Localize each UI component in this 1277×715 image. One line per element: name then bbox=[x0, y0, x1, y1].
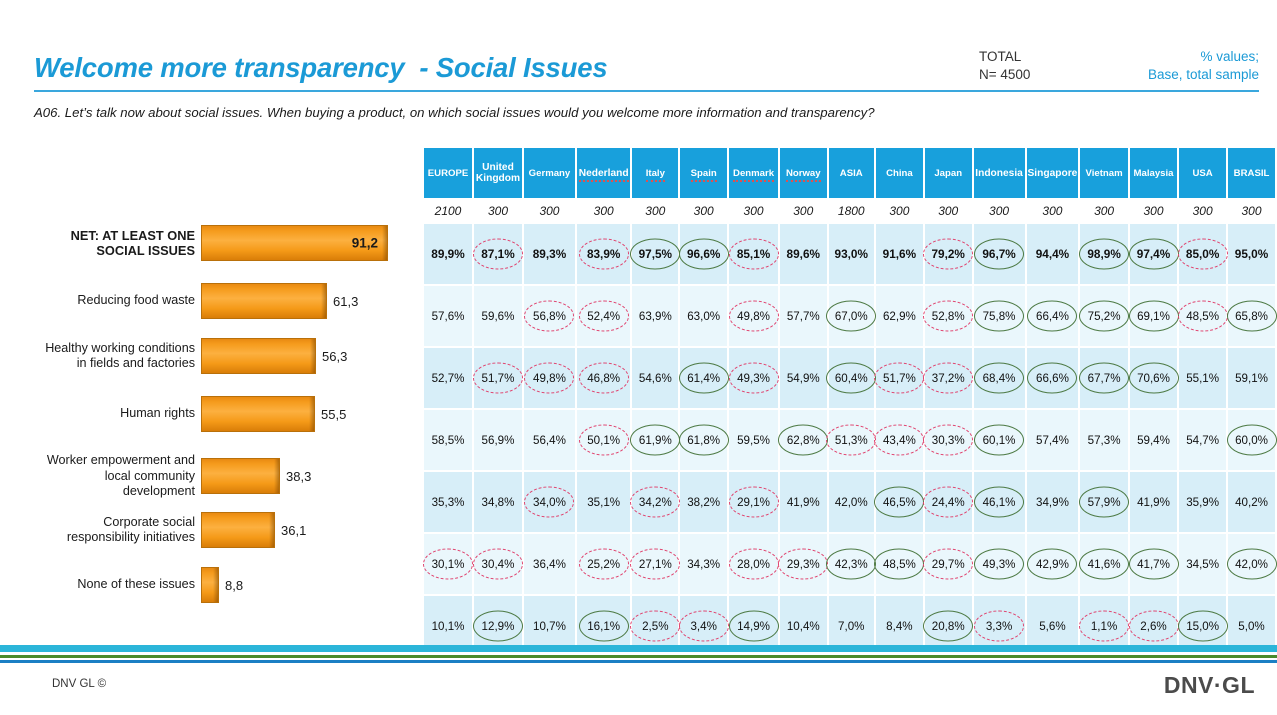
data-cell-value: 46,1% bbox=[978, 493, 1021, 512]
base-size-cell: 300 bbox=[925, 198, 974, 224]
data-cell: 46,8% bbox=[577, 348, 632, 410]
data-cell: 60,1% bbox=[974, 410, 1027, 472]
data-cell-value: 50,1% bbox=[582, 431, 625, 450]
bar-label: Human rights bbox=[0, 406, 201, 422]
data-cell: 34,2% bbox=[632, 472, 680, 534]
data-cell-value: 42,0% bbox=[830, 493, 873, 512]
data-cell: 42,0% bbox=[1228, 534, 1277, 596]
bar-wrapper: 8,8 bbox=[201, 567, 243, 603]
data-cell: 93,0% bbox=[829, 224, 876, 286]
data-cell-value: 34,2% bbox=[634, 493, 677, 512]
data-cell-value: 62,8% bbox=[782, 431, 825, 450]
data-cell-value: 48,5% bbox=[1181, 307, 1224, 326]
data-cell: 68,4% bbox=[974, 348, 1027, 410]
data-cell: 54,7% bbox=[1179, 410, 1228, 472]
bar-label: NET: AT LEAST ONESOCIAL ISSUES bbox=[0, 228, 201, 259]
total-label: TOTAL bbox=[979, 48, 1074, 66]
data-cell: 57,4% bbox=[1027, 410, 1081, 472]
data-cell: 60,0% bbox=[1228, 410, 1277, 472]
column-header-malaysia: Malaysia bbox=[1130, 148, 1179, 198]
data-cell: 54,9% bbox=[780, 348, 829, 410]
data-cell-value: 34,3% bbox=[682, 555, 725, 574]
data-cell: 57,9% bbox=[1080, 472, 1129, 534]
data-cell: 36,4% bbox=[524, 534, 577, 596]
footer-stripe-cyan bbox=[0, 645, 1277, 652]
column-header-asia: ASIA bbox=[829, 148, 876, 198]
data-cell-value: 20,8% bbox=[927, 617, 970, 636]
data-cell: 49,8% bbox=[729, 286, 780, 348]
bar-wrapper: 55,5 bbox=[201, 396, 346, 432]
data-cell: 66,6% bbox=[1027, 348, 1081, 410]
base-size-cell: 300 bbox=[474, 198, 524, 224]
data-cell-value: 37,2% bbox=[927, 369, 970, 388]
data-cell: 59,6% bbox=[474, 286, 524, 348]
table-row: 52,7%51,7%49,8%46,8%54,6%61,4%49,3%54,9%… bbox=[424, 348, 1277, 410]
data-cell-value: 97,4% bbox=[1132, 244, 1175, 264]
data-cell-value: 41,6% bbox=[1083, 555, 1126, 574]
data-cell: 67,7% bbox=[1080, 348, 1129, 410]
base-size-cell: 300 bbox=[524, 198, 577, 224]
data-cell: 67,0% bbox=[829, 286, 876, 348]
data-cell: 96,7% bbox=[974, 224, 1027, 286]
data-cell-value: 63,9% bbox=[634, 307, 677, 326]
base-size-row: 2100300300300300300300300180030030030030… bbox=[424, 198, 1277, 224]
data-cell-value: 1,1% bbox=[1086, 617, 1122, 636]
data-cell-value: 34,9% bbox=[1031, 493, 1074, 512]
data-cell: 29,3% bbox=[780, 534, 829, 596]
data-cell: 30,4% bbox=[474, 534, 524, 596]
table-row: 57,6%59,6%56,8%52,4%63,9%63,0%49,8%57,7%… bbox=[424, 286, 1277, 348]
data-cell: 75,8% bbox=[974, 286, 1027, 348]
bar-label: Corporate socialresponsibility initiativ… bbox=[0, 515, 201, 546]
data-cell: 51,3% bbox=[829, 410, 876, 472]
data-cell-value: 29,1% bbox=[732, 493, 775, 512]
data-cell-value: 27,1% bbox=[634, 555, 677, 574]
data-cell-value: 30,1% bbox=[427, 555, 470, 574]
data-cell: 89,3% bbox=[524, 224, 577, 286]
data-cell-value: 51,7% bbox=[477, 369, 520, 388]
bar-row: Reducing food waste61,3 bbox=[0, 283, 420, 319]
data-cell-value: 61,4% bbox=[682, 369, 725, 388]
data-cell: 40,2% bbox=[1228, 472, 1277, 534]
data-cell-value: 96,7% bbox=[977, 244, 1020, 264]
data-cell-value: 24,4% bbox=[927, 493, 970, 512]
data-cell-value: 87,1% bbox=[476, 244, 519, 264]
data-cell: 61,9% bbox=[632, 410, 680, 472]
data-cell-value: 30,3% bbox=[927, 431, 970, 450]
data-cell-value: 67,0% bbox=[830, 307, 873, 326]
bar-wrapper: 61,3 bbox=[201, 283, 358, 319]
data-cell: 37,2% bbox=[925, 348, 974, 410]
bar-row: Healthy working conditionsin fields and … bbox=[0, 338, 420, 374]
data-cell: 34,9% bbox=[1027, 472, 1081, 534]
data-cell-value: 10,1% bbox=[427, 617, 470, 636]
data-cell-value: 63,0% bbox=[682, 307, 725, 326]
data-cell-value: 59,5% bbox=[732, 431, 775, 450]
bar bbox=[201, 567, 219, 603]
bar-wrapper: 91,2 bbox=[201, 225, 388, 261]
data-cell: 83,9% bbox=[577, 224, 632, 286]
data-cell-value: 54,6% bbox=[634, 369, 677, 388]
data-cell-value: 2,6% bbox=[1135, 617, 1171, 636]
data-cell: 27,1% bbox=[632, 534, 680, 596]
bar-row: Corporate socialresponsibility initiativ… bbox=[0, 512, 420, 548]
bar-label: Reducing food waste bbox=[0, 293, 201, 309]
table-row: 58,5%56,9%56,4%50,1%61,9%61,8%59,5%62,8%… bbox=[424, 410, 1277, 472]
base-size-cell: 300 bbox=[1080, 198, 1129, 224]
column-header-brasil: BRASIL bbox=[1228, 148, 1277, 198]
data-cell-value: 94,4% bbox=[1031, 244, 1074, 264]
data-cell: 75,2% bbox=[1080, 286, 1129, 348]
data-cell: 51,7% bbox=[474, 348, 524, 410]
bar-value: 55,5 bbox=[321, 407, 346, 422]
bar-value: 38,3 bbox=[286, 469, 311, 484]
data-cell-value: 89,9% bbox=[426, 244, 469, 264]
column-header-spain: Spain bbox=[680, 148, 729, 198]
data-cell-value: 51,7% bbox=[878, 369, 921, 388]
data-cell-value: 59,6% bbox=[477, 307, 520, 326]
data-cell-value: 49,3% bbox=[732, 369, 775, 388]
bar-row: NET: AT LEAST ONESOCIAL ISSUES91,2 bbox=[0, 225, 420, 261]
data-cell-value: 57,4% bbox=[1031, 431, 1074, 450]
data-cell-value: 16,1% bbox=[582, 617, 625, 636]
data-cell-value: 41,9% bbox=[1132, 493, 1175, 512]
data-cell-value: 41,9% bbox=[782, 493, 825, 512]
data-cell: 61,8% bbox=[680, 410, 729, 472]
bar-chart: NET: AT LEAST ONESOCIAL ISSUES91,2Reduci… bbox=[0, 215, 420, 615]
data-cell-value: 91,6% bbox=[878, 244, 921, 264]
column-header-japan: Japan bbox=[925, 148, 974, 198]
data-cell-value: 38,2% bbox=[682, 493, 725, 512]
brand-logo: DNV·GL bbox=[1164, 672, 1255, 699]
results-table: EUROPEUnitedKingdomGermanyNederlandItaly… bbox=[424, 148, 1277, 658]
data-cell-value: 5,6% bbox=[1034, 617, 1070, 636]
data-cell: 70,6% bbox=[1130, 348, 1179, 410]
data-cell-value: 57,3% bbox=[1083, 431, 1126, 450]
column-header-norway: Norway bbox=[780, 148, 829, 198]
data-cell: 29,1% bbox=[729, 472, 780, 534]
data-cell: 54,6% bbox=[632, 348, 680, 410]
bar-value: 91,2 bbox=[352, 236, 378, 251]
question-text: A06. Let’s talk now about social issues.… bbox=[34, 103, 924, 122]
data-cell-value: 51,3% bbox=[830, 431, 873, 450]
data-cell: 87,1% bbox=[474, 224, 524, 286]
column-header-nederland: Nederland bbox=[577, 148, 632, 198]
sample-size-label: N= 4500 bbox=[979, 66, 1074, 84]
data-cell: 28,0% bbox=[729, 534, 780, 596]
data-cell: 89,6% bbox=[780, 224, 829, 286]
data-cell-value: 57,7% bbox=[782, 307, 825, 326]
data-cell: 30,1% bbox=[424, 534, 474, 596]
data-cell-value: 98,9% bbox=[1082, 244, 1125, 264]
data-cell-value: 66,6% bbox=[1031, 369, 1074, 388]
bar: 91,2 bbox=[201, 225, 388, 261]
data-cell-value: 93,0% bbox=[830, 244, 873, 264]
data-cell: 29,7% bbox=[925, 534, 974, 596]
data-cell-value: 95,0% bbox=[1230, 244, 1273, 264]
data-cell: 56,4% bbox=[524, 410, 577, 472]
table-row: 30,1%30,4%36,4%25,2%27,1%34,3%28,0%29,3%… bbox=[424, 534, 1277, 596]
data-cell-value: 29,3% bbox=[782, 555, 825, 574]
data-cell-value: 7,0% bbox=[833, 617, 869, 636]
column-header-usa: USA bbox=[1179, 148, 1228, 198]
column-header-indonesia: Indonesia bbox=[974, 148, 1027, 198]
base-size-cell: 300 bbox=[577, 198, 632, 224]
data-cell: 96,6% bbox=[680, 224, 729, 286]
data-cell-value: 42,3% bbox=[830, 555, 873, 574]
data-cell-value: 14,9% bbox=[732, 617, 775, 636]
data-cell-value: 42,0% bbox=[1230, 555, 1273, 574]
column-header-italy: Italy bbox=[632, 148, 680, 198]
data-cell: 57,7% bbox=[780, 286, 829, 348]
data-cell: 61,4% bbox=[680, 348, 729, 410]
bar-value: 56,3 bbox=[322, 349, 347, 364]
data-cell-value: 61,9% bbox=[634, 431, 677, 450]
base-size-cell: 300 bbox=[680, 198, 729, 224]
data-cell-value: 66,4% bbox=[1031, 307, 1074, 326]
data-cell: 52,7% bbox=[424, 348, 474, 410]
data-cell-value: 58,5% bbox=[427, 431, 470, 450]
data-cell: 62,9% bbox=[876, 286, 925, 348]
data-cell: 41,9% bbox=[1130, 472, 1179, 534]
data-cell-value: 34,0% bbox=[528, 493, 571, 512]
bar bbox=[201, 338, 316, 374]
data-cell-value: 55,1% bbox=[1181, 369, 1224, 388]
data-cell: 63,9% bbox=[632, 286, 680, 348]
data-cell: 58,5% bbox=[424, 410, 474, 472]
header-meta: TOTAL % values; N= 4500 Base, total samp… bbox=[979, 48, 1259, 88]
data-cell-value: 15,0% bbox=[1181, 617, 1224, 636]
data-cell: 30,3% bbox=[925, 410, 974, 472]
data-cell-value: 29,7% bbox=[927, 555, 970, 574]
bar-label: Healthy working conditionsin fields and … bbox=[0, 341, 201, 372]
data-cell-value: 42,9% bbox=[1031, 555, 1074, 574]
data-cell-value: 2,5% bbox=[637, 617, 673, 636]
data-cell-value: 97,5% bbox=[634, 244, 677, 264]
data-cell-value: 59,4% bbox=[1132, 431, 1175, 450]
table-row: 35,3%34,8%34,0%35,1%34,2%38,2%29,1%41,9%… bbox=[424, 472, 1277, 534]
data-cell-value: 30,4% bbox=[477, 555, 520, 574]
values-note: % values; bbox=[1074, 48, 1259, 66]
data-cell: 49,3% bbox=[729, 348, 780, 410]
data-cell: 48,5% bbox=[1179, 286, 1228, 348]
base-size-cell: 300 bbox=[1130, 198, 1179, 224]
base-size-cell: 1800 bbox=[829, 198, 876, 224]
bar bbox=[201, 396, 315, 432]
data-cell-value: 25,2% bbox=[582, 555, 625, 574]
data-cell: 46,5% bbox=[876, 472, 925, 534]
data-cell-value: 5,0% bbox=[1233, 617, 1269, 636]
data-cell: 59,1% bbox=[1228, 348, 1277, 410]
data-cell-value: 43,4% bbox=[878, 431, 921, 450]
data-cell-value: 65,8% bbox=[1230, 307, 1273, 326]
data-cell-value: 60,4% bbox=[830, 369, 873, 388]
data-cell: 59,4% bbox=[1130, 410, 1179, 472]
data-cell-value: 85,0% bbox=[1181, 244, 1224, 264]
data-cell-value: 96,6% bbox=[682, 244, 725, 264]
data-cell: 56,8% bbox=[524, 286, 577, 348]
bar-value: 36,1 bbox=[281, 523, 306, 538]
data-cell-value: 56,4% bbox=[528, 431, 571, 450]
data-cell-value: 54,9% bbox=[782, 369, 825, 388]
data-cell: 50,1% bbox=[577, 410, 632, 472]
data-cell: 62,8% bbox=[780, 410, 829, 472]
data-cell-value: 57,9% bbox=[1083, 493, 1126, 512]
base-size-cell: 2100 bbox=[424, 198, 474, 224]
column-header-vietnam: Vietnam bbox=[1080, 148, 1129, 198]
table-row: 89,9%87,1%89,3%83,9%97,5%96,6%85,1%89,6%… bbox=[424, 224, 1277, 286]
data-cell-value: 56,8% bbox=[528, 307, 571, 326]
base-size-cell: 300 bbox=[876, 198, 925, 224]
bar-value: 8,8 bbox=[225, 578, 243, 593]
data-cell-value: 36,4% bbox=[528, 555, 571, 574]
data-cell-value: 83,9% bbox=[582, 244, 625, 264]
bar-label: None of these issues bbox=[0, 577, 201, 593]
bar-wrapper: 38,3 bbox=[201, 458, 311, 494]
data-cell-value: 70,6% bbox=[1132, 369, 1175, 388]
base-size-cell: 300 bbox=[729, 198, 780, 224]
data-cell: 41,7% bbox=[1130, 534, 1179, 596]
table-header-row: EUROPEUnitedKingdomGermanyNederlandItaly… bbox=[424, 148, 1277, 198]
data-cell-value: 52,7% bbox=[427, 369, 470, 388]
title-divider bbox=[34, 90, 1259, 92]
base-size-cell: 300 bbox=[1179, 198, 1228, 224]
bar bbox=[201, 283, 327, 319]
data-cell-value: 79,2% bbox=[926, 244, 969, 264]
data-cell: 49,3% bbox=[974, 534, 1027, 596]
base-note: Base, total sample bbox=[1074, 66, 1259, 84]
data-cell: 46,1% bbox=[974, 472, 1027, 534]
data-cell-value: 49,3% bbox=[978, 555, 1021, 574]
data-cell: 91,6% bbox=[876, 224, 925, 286]
bar-row: None of these issues8,8 bbox=[0, 567, 420, 603]
column-header-china: China bbox=[876, 148, 925, 198]
bar bbox=[201, 512, 275, 548]
data-cell-value: 68,4% bbox=[978, 369, 1021, 388]
data-cell: 25,2% bbox=[577, 534, 632, 596]
data-cell-value: 12,9% bbox=[477, 617, 520, 636]
column-header-denmark: Denmark bbox=[729, 148, 780, 198]
footer-stripe-blue bbox=[0, 660, 1277, 663]
data-cell-value: 61,8% bbox=[682, 431, 725, 450]
data-cell: 41,9% bbox=[780, 472, 829, 534]
data-cell: 34,3% bbox=[680, 534, 729, 596]
base-size-cell: 300 bbox=[632, 198, 680, 224]
data-cell: 41,6% bbox=[1080, 534, 1129, 596]
base-size-cell: 300 bbox=[1027, 198, 1081, 224]
data-cell-value: 54,7% bbox=[1181, 431, 1224, 450]
bar-value: 61,3 bbox=[333, 294, 358, 309]
data-cell: 98,9% bbox=[1080, 224, 1129, 286]
bar-label: Worker empowerment andlocal communitydev… bbox=[0, 453, 201, 500]
data-cell-value: 46,5% bbox=[878, 493, 921, 512]
data-cell-value: 35,3% bbox=[427, 493, 470, 512]
footer-copyright: DNV GL © bbox=[52, 678, 106, 690]
data-cell-value: 35,1% bbox=[582, 493, 625, 512]
data-cell-value: 35,9% bbox=[1181, 493, 1224, 512]
data-cell-value: 62,9% bbox=[878, 307, 921, 326]
data-cell-value: 41,7% bbox=[1132, 555, 1175, 574]
data-cell-value: 89,3% bbox=[528, 244, 571, 264]
data-cell-value: 89,6% bbox=[782, 244, 825, 264]
data-cell-value: 10,7% bbox=[528, 617, 571, 636]
data-cell: 35,3% bbox=[424, 472, 474, 534]
data-cell-value: 3,3% bbox=[981, 617, 1017, 636]
data-cell: 52,4% bbox=[577, 286, 632, 348]
data-cell: 49,8% bbox=[524, 348, 577, 410]
data-cell-value: 60,0% bbox=[1230, 431, 1273, 450]
data-cell: 89,9% bbox=[424, 224, 474, 286]
data-cell: 69,1% bbox=[1130, 286, 1179, 348]
data-cell-value: 85,1% bbox=[732, 244, 775, 264]
data-cell: 42,9% bbox=[1027, 534, 1081, 596]
data-cell: 35,1% bbox=[577, 472, 632, 534]
data-cell: 34,5% bbox=[1179, 534, 1228, 596]
data-cell: 34,8% bbox=[474, 472, 524, 534]
data-cell: 56,9% bbox=[474, 410, 524, 472]
column-header-united-kingdom: UnitedKingdom bbox=[474, 148, 524, 198]
data-cell-value: 3,4% bbox=[685, 617, 721, 636]
data-cell: 59,5% bbox=[729, 410, 780, 472]
data-cell: 60,4% bbox=[829, 348, 876, 410]
bar-wrapper: 36,1 bbox=[201, 512, 306, 548]
data-cell: 43,4% bbox=[876, 410, 925, 472]
data-cell-value: 67,7% bbox=[1083, 369, 1126, 388]
base-size-cell: 300 bbox=[780, 198, 829, 224]
data-cell-value: 60,1% bbox=[978, 431, 1021, 450]
data-cell: 52,8% bbox=[925, 286, 974, 348]
data-cell: 48,5% bbox=[876, 534, 925, 596]
bar bbox=[201, 458, 280, 494]
data-cell: 42,3% bbox=[829, 534, 876, 596]
data-cell: 94,4% bbox=[1027, 224, 1081, 286]
base-size-cell: 300 bbox=[974, 198, 1027, 224]
data-cell-value: 40,2% bbox=[1230, 493, 1273, 512]
data-cell: 95,0% bbox=[1228, 224, 1277, 286]
data-cell: 85,0% bbox=[1179, 224, 1228, 286]
data-cell: 85,1% bbox=[729, 224, 780, 286]
column-header-germany: Germany bbox=[524, 148, 577, 198]
bar-wrapper: 56,3 bbox=[201, 338, 347, 374]
column-header-singapore: Singapore bbox=[1027, 148, 1081, 198]
data-cell-value: 46,8% bbox=[582, 369, 625, 388]
bar-row: Human rights55,5 bbox=[0, 396, 420, 432]
data-cell: 51,7% bbox=[876, 348, 925, 410]
data-cell: 65,8% bbox=[1228, 286, 1277, 348]
data-cell: 57,6% bbox=[424, 286, 474, 348]
column-header-europe: EUROPE bbox=[424, 148, 474, 198]
page-title: Welcome more transparency - Social Issue… bbox=[34, 52, 607, 84]
data-cell-value: 52,8% bbox=[927, 307, 970, 326]
data-cell: 55,1% bbox=[1179, 348, 1228, 410]
data-cell-value: 34,8% bbox=[477, 493, 520, 512]
data-cell-value: 8,4% bbox=[881, 617, 917, 636]
data-cell-value: 10,4% bbox=[782, 617, 825, 636]
base-size-cell: 300 bbox=[1228, 198, 1277, 224]
data-cell: 57,3% bbox=[1080, 410, 1129, 472]
data-cell: 97,5% bbox=[632, 224, 680, 286]
data-cell-value: 59,1% bbox=[1230, 369, 1273, 388]
data-cell: 38,2% bbox=[680, 472, 729, 534]
data-cell-value: 49,8% bbox=[732, 307, 775, 326]
data-cell-value: 49,8% bbox=[528, 369, 571, 388]
data-cell-value: 56,9% bbox=[477, 431, 520, 450]
data-cell: 42,0% bbox=[829, 472, 876, 534]
data-cell: 34,0% bbox=[524, 472, 577, 534]
data-cell-value: 48,5% bbox=[878, 555, 921, 574]
bar-row: Worker empowerment andlocal communitydev… bbox=[0, 453, 420, 500]
data-cell: 97,4% bbox=[1130, 224, 1179, 286]
